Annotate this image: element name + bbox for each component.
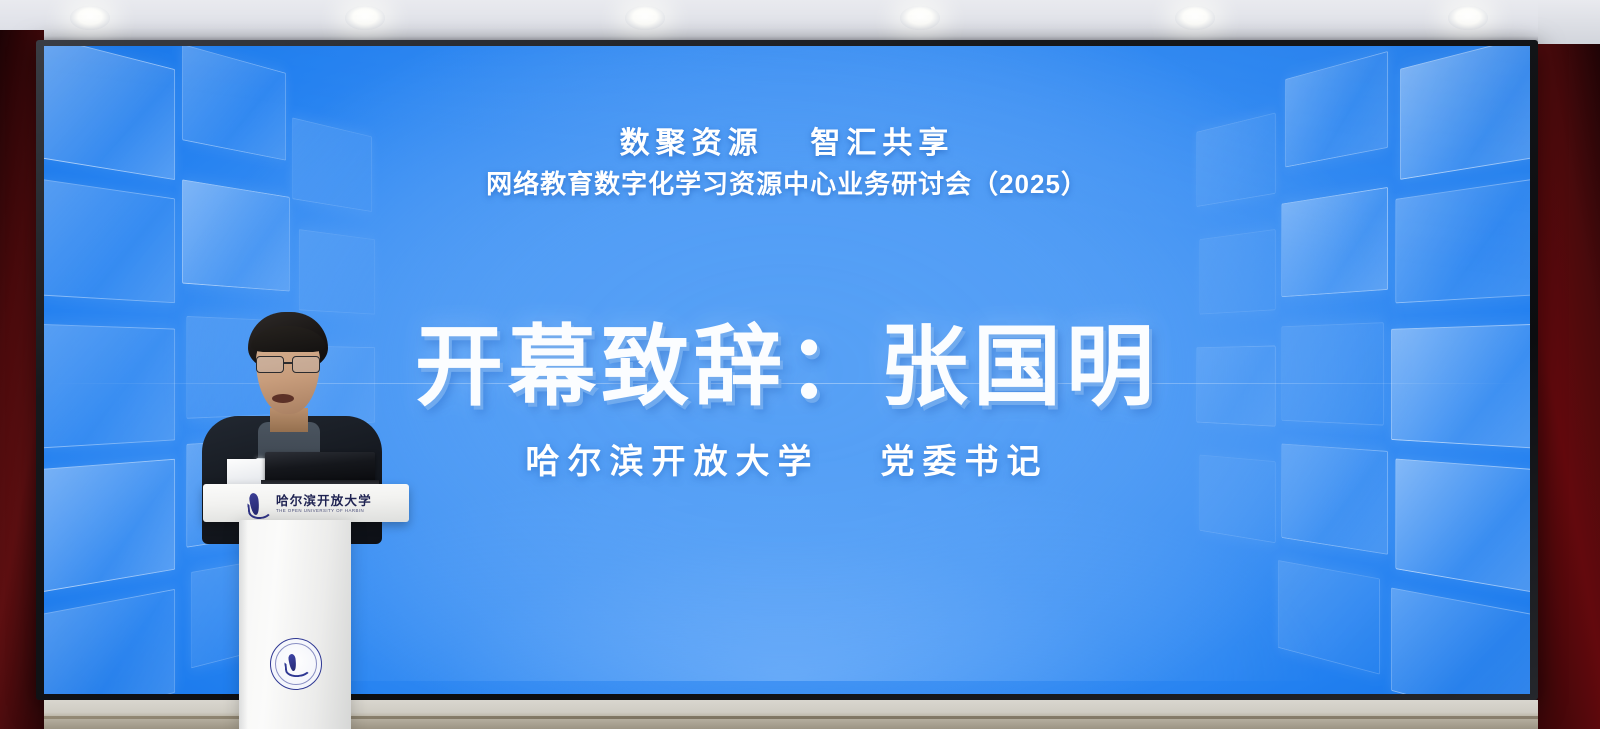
lectern-logo: 哈尔滨开放大学 THE OPEN UNIVERSITY OF HARBIN (247, 489, 401, 519)
ceiling-downlight-icon (345, 6, 385, 30)
speaker-mouth (272, 394, 294, 403)
ceiling-downlight-icon (70, 6, 110, 30)
seal-swoosh-mark (283, 653, 309, 675)
panel-group-right (1162, 46, 1530, 694)
lectern-logo-text: 哈尔滨开放大学 THE OPEN UNIVERSITY OF HARBIN (276, 495, 372, 514)
right-wall (1538, 30, 1600, 729)
conference-hall-scene: 数聚资源 智汇共享 网络教育数字化学习资源中心业务研讨会（2025） 开幕致辞：… (0, 0, 1600, 729)
right-wall-ceiling-return (1538, 0, 1600, 44)
eyeglass-lens-right (292, 356, 320, 373)
lectern-column (239, 520, 351, 729)
ceiling-downlight-icon (900, 6, 940, 30)
lectern: 哈尔滨开放大学 THE OPEN UNIVERSITY OF HARBIN (203, 452, 409, 729)
laptop-icon (265, 452, 375, 482)
eyeglass-lens-left (256, 356, 284, 373)
university-swoosh-icon (247, 492, 269, 516)
university-seal-icon (270, 638, 322, 690)
ceiling-downlight-icon (1175, 6, 1215, 30)
lectern-logo-en: THE OPEN UNIVERSITY OF HARBIN (276, 509, 372, 513)
ceiling-downlight-icon (625, 6, 665, 30)
lectern-logo-cn: 哈尔滨开放大学 (276, 495, 372, 508)
eyeglasses-icon (254, 356, 322, 372)
ceiling-downlight-icon (1448, 6, 1488, 30)
